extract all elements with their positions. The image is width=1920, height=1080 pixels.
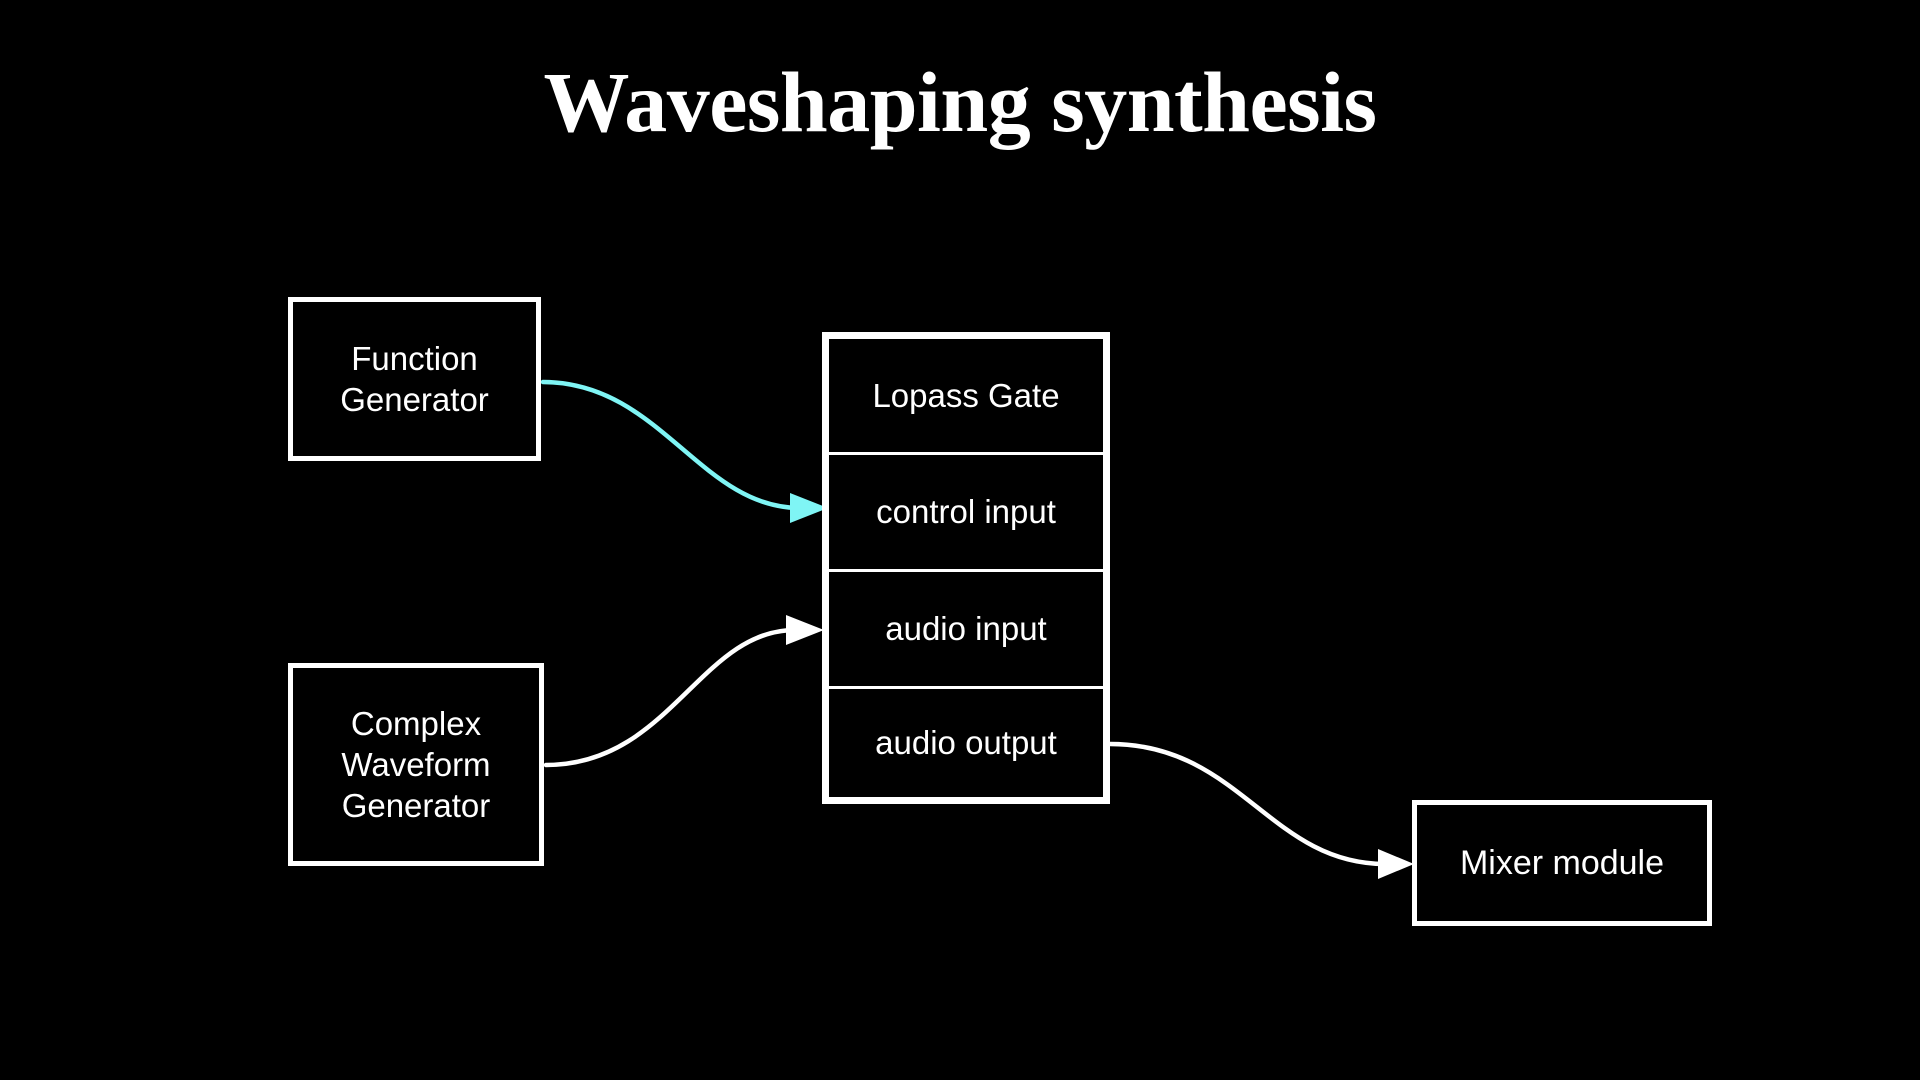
slide-canvas: Waveshaping synthesis Function Generator… xyxy=(0,0,1920,1080)
stack-row-audio-output[interactable]: audio output xyxy=(826,689,1106,800)
stack-row-lopass-gate-label: Lopass Gate xyxy=(872,376,1059,416)
stack-row-control-input-label: control input xyxy=(876,492,1056,532)
function-generator-label-line-1: Function xyxy=(340,338,489,379)
page-title: Waveshaping synthesis xyxy=(0,52,1920,152)
connector-complex-waveform-generator-to-audio-input xyxy=(546,615,824,765)
complex-waveform-generator-label: Complex Waveform Generator xyxy=(341,703,490,826)
complex-waveform-generator-label-line-1: Complex xyxy=(341,703,490,744)
module-box-function-generator[interactable]: Function Generator xyxy=(288,297,541,461)
stack-row-audio-input[interactable]: audio input xyxy=(826,572,1106,689)
stack-row-lopass-gate[interactable]: Lopass Gate xyxy=(826,336,1106,455)
stack-row-audio-output-label: audio output xyxy=(875,723,1057,763)
connector-function-generator-to-control-input xyxy=(543,382,828,523)
function-generator-label: Function Generator xyxy=(340,338,489,420)
connector-audio-output-to-mixer-module xyxy=(1110,744,1414,879)
complex-waveform-generator-label-line-2: Waveform xyxy=(341,744,490,785)
stack-row-control-input[interactable]: control input xyxy=(826,455,1106,572)
stack-row-audio-input-label: audio input xyxy=(885,609,1046,649)
function-generator-label-line-2: Generator xyxy=(340,379,489,420)
module-stack-lopass-gate[interactable]: Lopass Gate control input audio input au… xyxy=(822,332,1110,804)
module-box-complex-waveform-generator[interactable]: Complex Waveform Generator xyxy=(288,663,544,866)
complex-waveform-generator-label-line-3: Generator xyxy=(341,785,490,826)
module-box-mixer-module[interactable]: Mixer module xyxy=(1412,800,1712,926)
mixer-module-label: Mixer module xyxy=(1460,843,1664,884)
